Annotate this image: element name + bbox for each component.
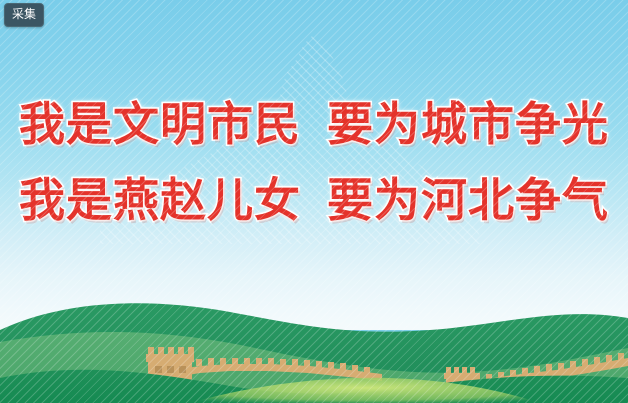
headline-line-2: 我是燕赵儿女要为河北争气 (0, 162, 628, 238)
headline-line2-left: 我是燕赵儿女 (19, 162, 301, 238)
headline-line1-left: 我是文明市民 (19, 86, 301, 162)
capture-button[interactable]: 采集 (4, 3, 44, 27)
headline-block: 我是文明市民要为城市争光 我是燕赵儿女要为河北争气 (0, 86, 628, 238)
headline-line-1: 我是文明市民要为城市争光 (0, 86, 628, 162)
banner-image: 我是文明市民要为城市争光 我是燕赵儿女要为河北争气 采集 (0, 0, 628, 403)
headline-line2-right: 要为河北争气 (327, 162, 609, 238)
headline-line1-right: 要为城市争光 (327, 86, 609, 162)
